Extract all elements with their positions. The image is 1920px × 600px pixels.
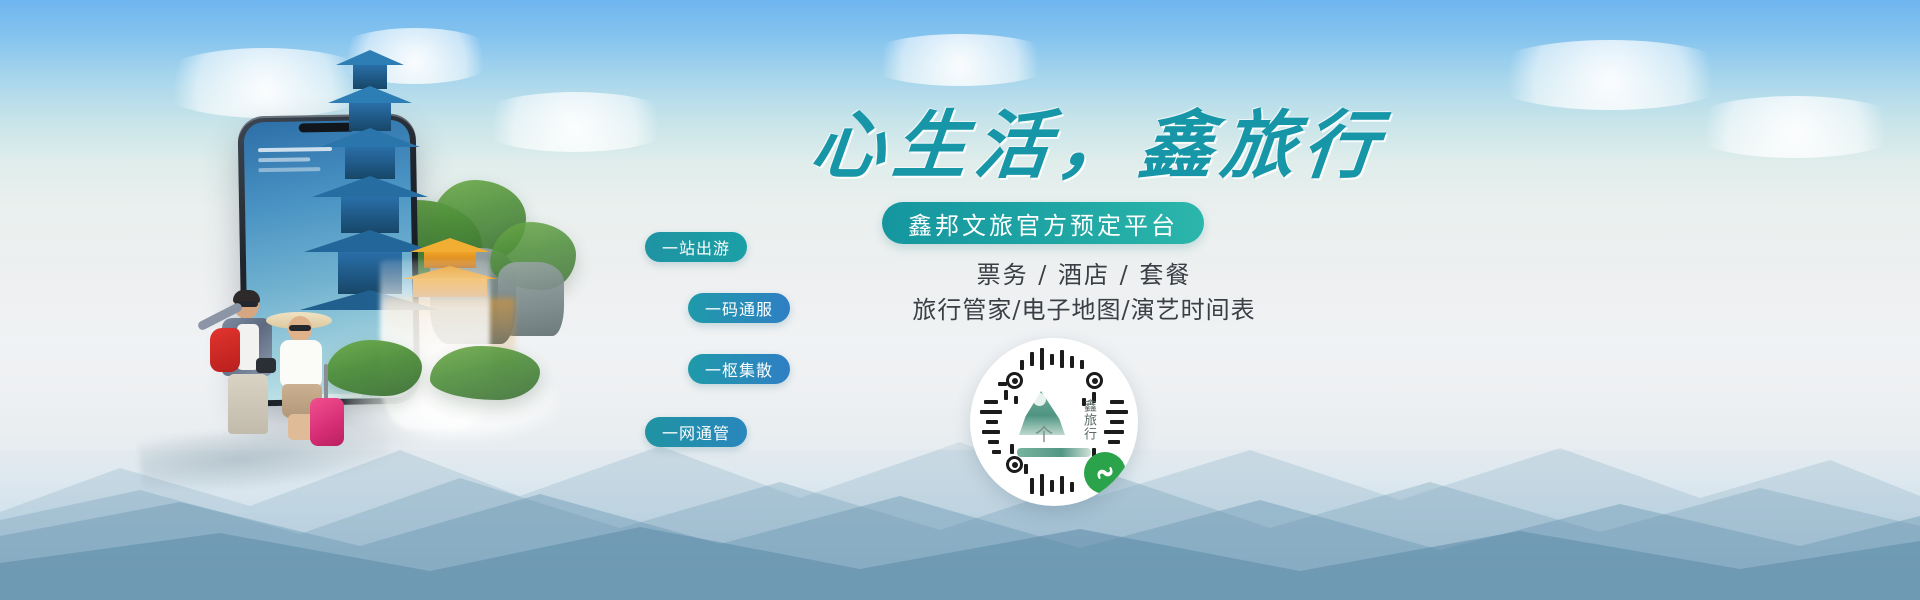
service-list: 票务 / 酒店 / 套餐 旅行管家/电子地图/演艺时间表 [884, 258, 1284, 328]
qr-module [992, 450, 1001, 454]
traveller-backpack [210, 328, 240, 372]
service-line-2: 旅行管家/电子地图/演艺时间表 [884, 292, 1284, 328]
marketing-copy-block: 心生活，鑫旅行 鑫邦文旅官方预定平台 票务 / 酒店 / 套餐 旅行管家/电子地… [760, 60, 1520, 580]
pagoda-roof [320, 128, 420, 147]
qr-module [1060, 350, 1064, 368]
qr-module [982, 430, 1000, 434]
promo-banner: 一站出游 一码通服 一枢集散 一网通管 心生活，鑫旅行 鑫邦文旅官方预定平台 票… [0, 0, 1920, 600]
qr-module [980, 410, 1002, 414]
pagoda-roof [336, 50, 404, 65]
sun-icon [1033, 393, 1046, 406]
traveller-sunglasses [289, 325, 311, 331]
qr-module [1030, 478, 1034, 494]
qr-brand-text: 鑫旅行 [1081, 399, 1095, 441]
qr-module [1110, 420, 1124, 424]
pagoda-tier [345, 147, 395, 179]
qr-module [1070, 356, 1074, 368]
qr-module [1110, 400, 1124, 404]
qr-module [1050, 480, 1054, 492]
qr-center-logo: 鑫旅行 个 [1011, 379, 1097, 465]
traveller-female [262, 306, 338, 438]
feature-pill-4[interactable]: 一网通管 [645, 417, 747, 447]
wechat-miniprogram-icon [1084, 452, 1126, 494]
platform-badge-label: 鑫邦文旅官方预定平台 [908, 206, 1178, 241]
temple-roof [410, 238, 490, 252]
page-title: 心生活，鑫旅行 [806, 86, 1391, 193]
travel-illustration [130, 10, 690, 600]
qr-module [1024, 464, 1028, 474]
qr-module [1104, 430, 1124, 434]
feature-pill-1[interactable]: 一站出游 [645, 232, 747, 262]
traveller-torso [280, 340, 322, 388]
qr-module [1108, 440, 1120, 444]
qr-module [984, 400, 998, 404]
person-glyph: 个 [1035, 421, 1053, 447]
qr-module [988, 440, 999, 444]
qr-module [1070, 482, 1074, 492]
pagoda-roof [312, 176, 428, 197]
pagoda-roof [328, 86, 412, 103]
qr-code[interactable]: 鑫旅行 个 [970, 338, 1138, 506]
qr-module [1040, 474, 1044, 496]
pagoda-tier [341, 197, 399, 233]
qr-module [1106, 410, 1128, 414]
qr-module [1040, 348, 1044, 370]
feature-pill-label: 一网通管 [662, 420, 730, 444]
karst-island [326, 340, 422, 396]
qr-module [1080, 360, 1084, 369]
qr-code-disc: 鑫旅行 个 [970, 338, 1138, 506]
pagoda-tier [349, 103, 391, 131]
qr-module [1020, 360, 1024, 370]
qr-module [1060, 476, 1064, 494]
logo-base-stroke [1017, 448, 1091, 457]
rolling-luggage [310, 398, 344, 446]
karst-island [430, 346, 540, 400]
feature-pill-label: 一站出游 [662, 235, 730, 259]
qr-module [998, 382, 1007, 386]
qr-module [1050, 354, 1054, 365]
service-line-1: 票务 / 酒店 / 套餐 [884, 258, 1284, 292]
qr-module [986, 420, 998, 424]
luggage-handle [324, 364, 328, 400]
cloud-decoration [1680, 96, 1910, 158]
qr-module [1030, 352, 1034, 366]
platform-badge[interactable]: 鑫邦文旅官方预定平台 [882, 202, 1204, 244]
qr-module [1004, 390, 1008, 400]
